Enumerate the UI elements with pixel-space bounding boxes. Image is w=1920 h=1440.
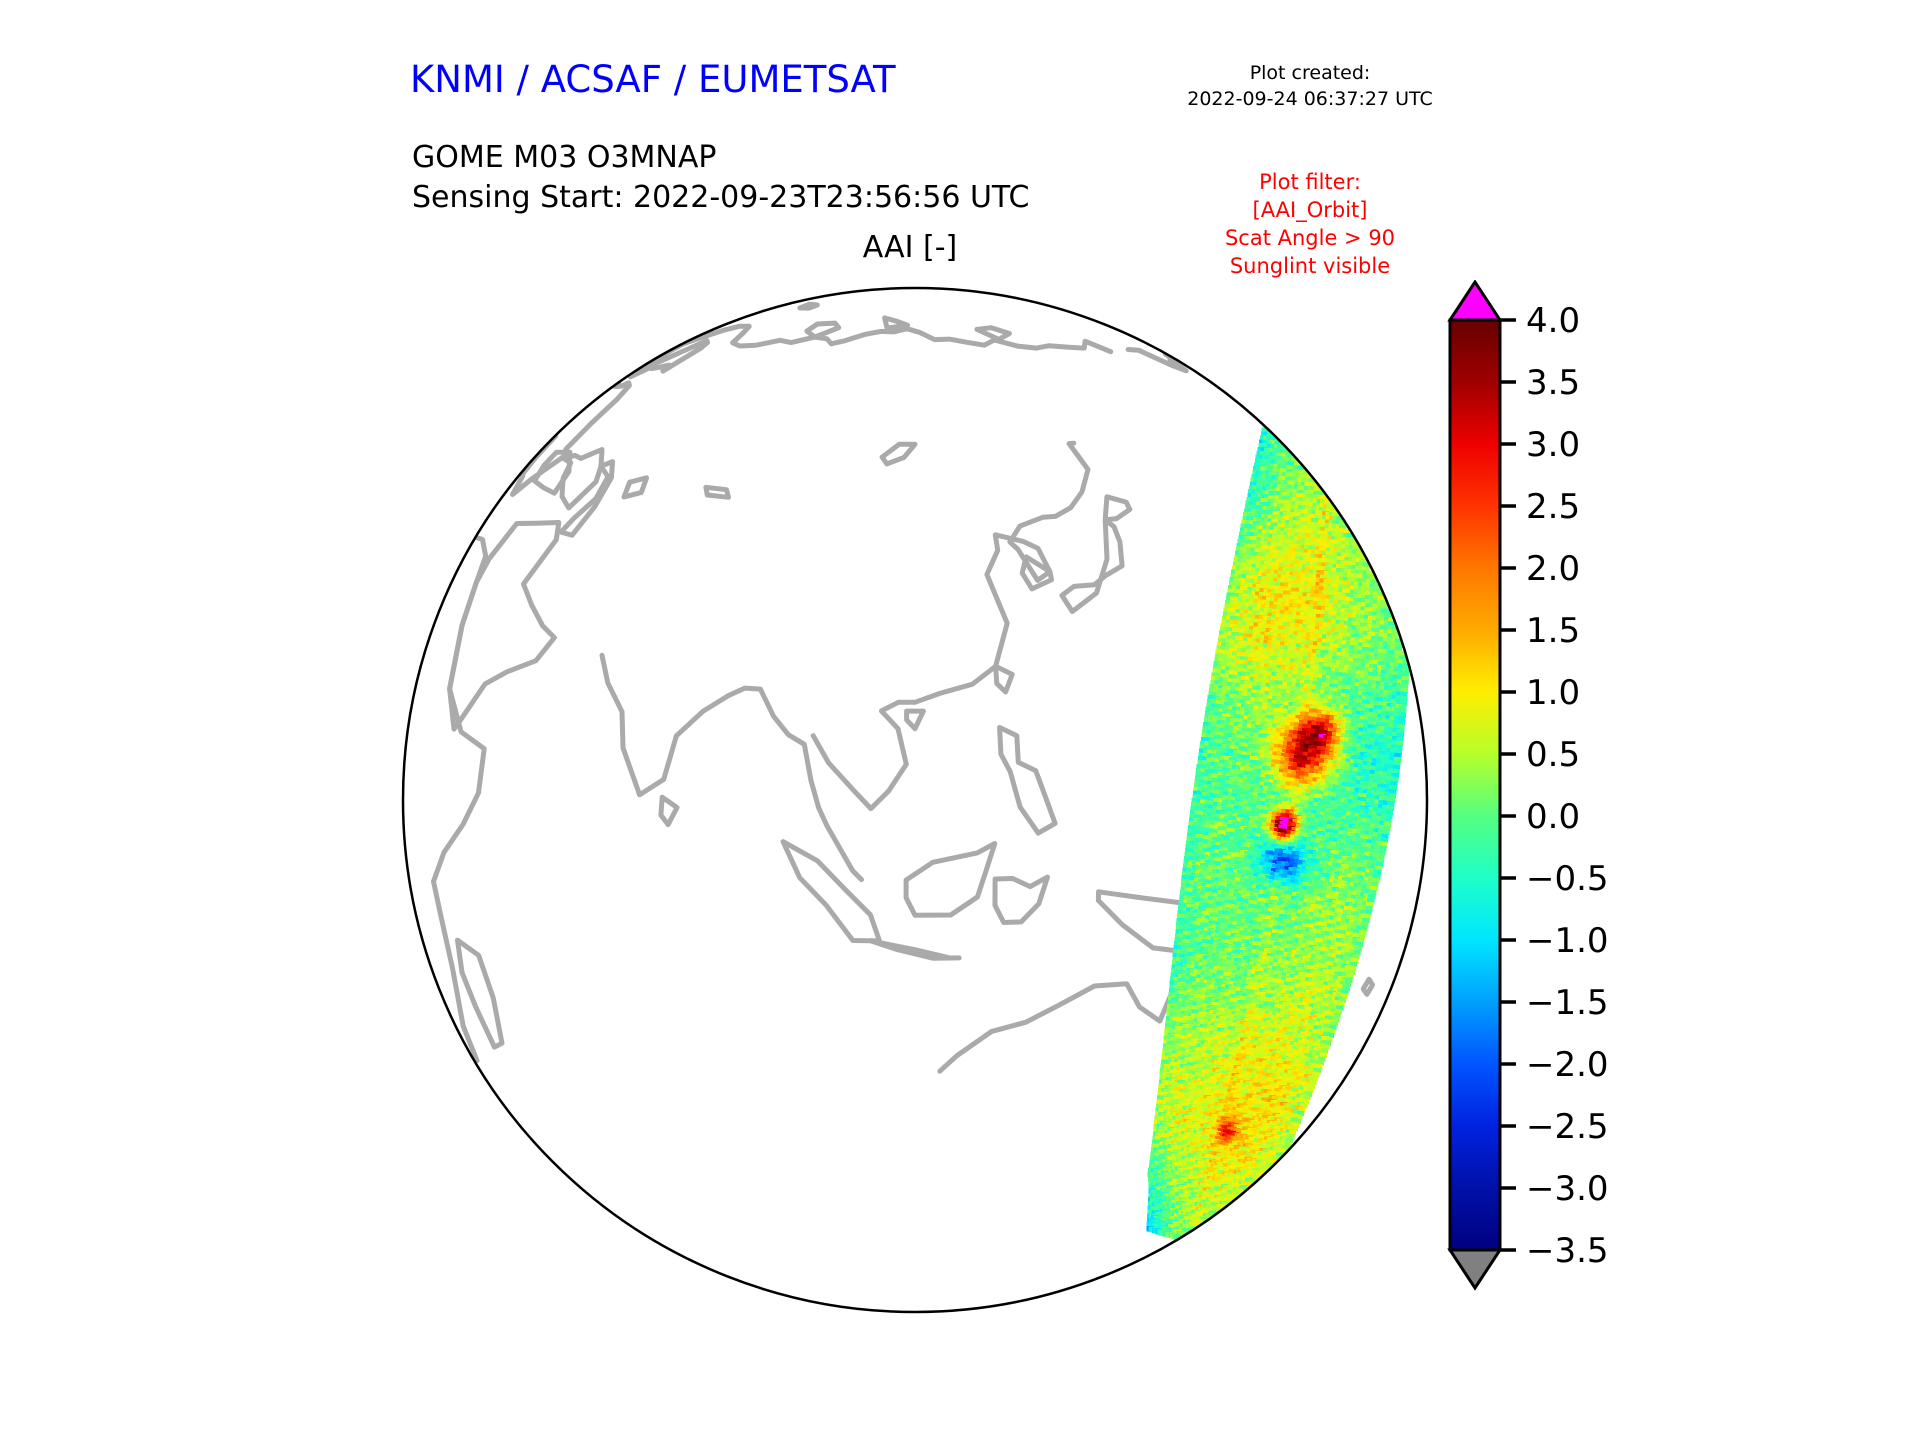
colorbar-ticks: 4.03.53.02.52.01.51.00.50.0−0.5−1.0−1.5−… <box>1500 301 1609 1271</box>
colorbar-over-arrow <box>1450 282 1500 320</box>
colorbar-tick-label: 2.0 <box>1526 549 1580 589</box>
product-title-block: GOME M03 O3MNAP Sensing Start: 2022-09-2… <box>412 138 1029 218</box>
plot-filter-line-0: Plot filter: <box>1140 168 1480 196</box>
colorbar-tick-label: 4.0 <box>1526 301 1580 341</box>
colorbar-tick-label: 0.0 <box>1526 797 1580 837</box>
colorbar-tick-label: −3.5 <box>1526 1231 1609 1271</box>
map-panel <box>400 285 1430 1315</box>
colorbar-panel: 4.03.53.02.52.01.51.00.50.0−0.5−1.0−1.5−… <box>1430 280 1730 1350</box>
colorbar-tick-label: −1.0 <box>1526 921 1609 961</box>
colorbar-tick-label: 3.5 <box>1526 363 1580 403</box>
colorbar-tick-label: 3.0 <box>1526 425 1580 465</box>
colorbar-under-arrow <box>1450 1250 1500 1288</box>
coastline-path <box>800 304 817 308</box>
sensing-start: Sensing Start: 2022-09-23T23:56:56 UTC <box>412 178 1029 218</box>
plot-created-time: 2022-09-24 06:37:27 UTC <box>1155 86 1465 112</box>
plot-created-block: Plot created: 2022-09-24 06:37:27 UTC <box>1155 60 1465 112</box>
colorbar-tick-label: 1.0 <box>1526 673 1580 713</box>
colorbar-tick-label: 0.5 <box>1526 735 1580 775</box>
plot-filter-line-1: [AAI_Orbit] <box>1140 196 1480 224</box>
organizations-title: KNMI / ACSAF / EUMETSAT <box>410 58 896 101</box>
plot-created-label: Plot created: <box>1155 60 1465 86</box>
product-name: GOME M03 O3MNAP <box>412 138 1029 178</box>
colorbar-tick-label: 2.5 <box>1526 487 1580 527</box>
colorbar-tick-label: −2.5 <box>1526 1107 1609 1147</box>
plot-filter-block: Plot filter: [AAI_Orbit] Scat Angle > 90… <box>1140 168 1480 280</box>
colorbar-tick-label: −0.5 <box>1526 859 1609 899</box>
colorbar-tick-label: −2.0 <box>1526 1045 1609 1085</box>
colorbar: 4.03.53.02.52.01.51.00.50.0−0.5−1.0−1.5−… <box>1430 280 1730 1350</box>
colorbar-tick-label: −3.0 <box>1526 1169 1609 1209</box>
colorbar-tick-label: 1.5 <box>1526 611 1580 651</box>
plot-filter-line-3: Sunglint visible <box>1140 252 1480 280</box>
plot-filter-line-2: Scat Angle > 90 <box>1140 224 1480 252</box>
orthographic-globe <box>400 285 1430 1315</box>
plot-page: KNMI / ACSAF / EUMETSAT Plot created: 20… <box>0 0 1920 1440</box>
colorbar-tick-label: −1.5 <box>1526 983 1609 1023</box>
colorbar-gradient <box>1450 320 1500 1250</box>
